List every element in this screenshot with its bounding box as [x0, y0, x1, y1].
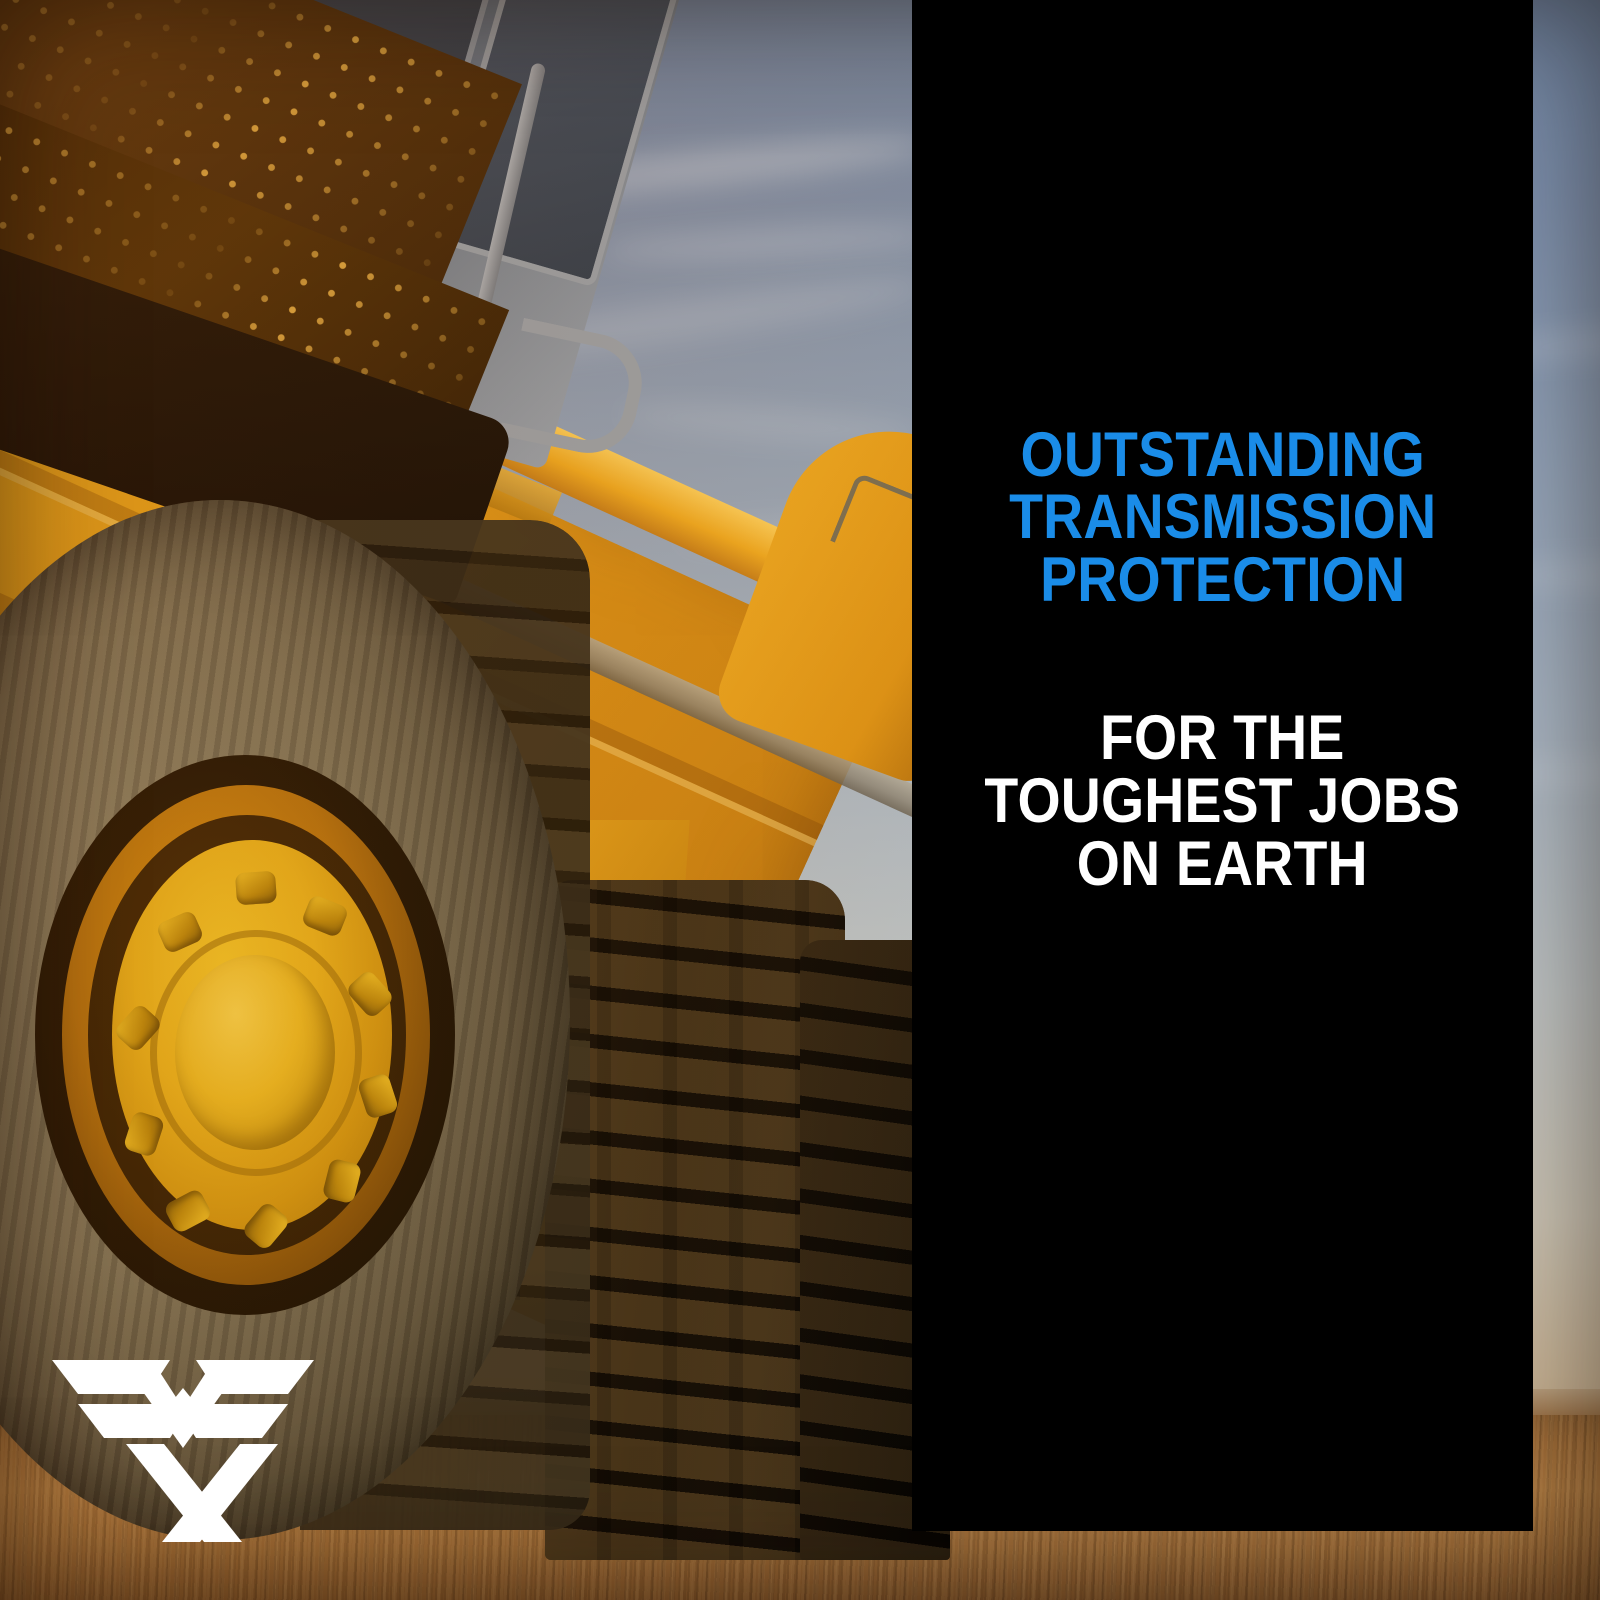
text-panel: OUTSTANDING TRANSMISSION PROTECTION FOR …	[912, 0, 1533, 1531]
subheadline-text: FOR THE TOUGHEST JOBS ON EARTH	[985, 707, 1461, 896]
poster-canvas: OUTSTANDING TRANSMISSION PROTECTION FOR …	[0, 0, 1600, 1600]
eagle-logo	[52, 1352, 314, 1544]
headline-text: OUTSTANDING TRANSMISSION PROTECTION	[1009, 424, 1436, 611]
